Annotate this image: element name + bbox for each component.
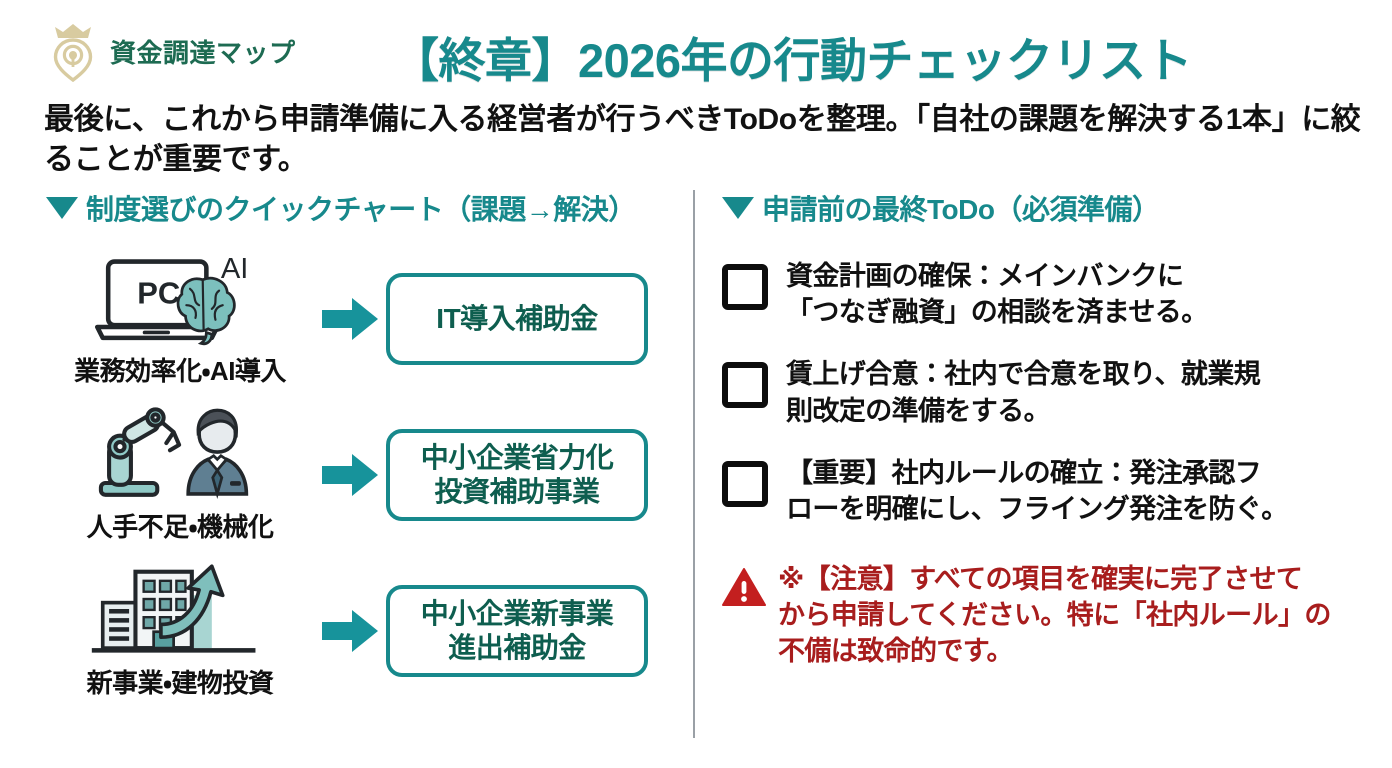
scheme-card[interactable]: 中小企業新事業 進出補助金 <box>386 585 648 677</box>
buildings-growth-arrow-icon <box>82 563 278 659</box>
checkbox-empty-icon[interactable] <box>722 362 768 408</box>
scheme-card-line: 投資補助事業 <box>421 475 614 509</box>
checklist-line: 賃上げ合意：社内で合意を取り、就業規 <box>786 359 1260 389</box>
flow-icon-label: 業務効率化・AI導入 <box>74 351 286 388</box>
checklist-item-text: 資金計画の確保：メインバンクに 「つなぎ融資」の相談を済ませる。 <box>786 258 1208 330</box>
robot-arm-businessman-icon <box>82 407 278 503</box>
flow-icon-label: 人手不足・機械化 <box>87 507 274 544</box>
left-column: 制度選びのクイックチャート（課題→解決） PC AI <box>46 188 686 706</box>
warning-line: ※【注意】すべての項目を確実に完了させて <box>778 564 1302 594</box>
flow-arrow-cell <box>314 609 386 653</box>
brand-name: 資金調達マップ <box>110 33 296 70</box>
flow-row: 新事業・建物投資 中小企業新事業 進出補助金 <box>46 556 686 706</box>
crown-pin-logo-icon <box>46 20 100 82</box>
checklist-line: 資金計画の確保：メインバンクに <box>786 261 1183 291</box>
arrow-right-icon <box>322 297 378 341</box>
flow-arrow-cell <box>314 297 386 341</box>
scheme-card-line: 中小企業新事業 <box>421 597 614 631</box>
checklist-item[interactable]: 【重要】社内ルールの確立：発注承認フ ローを明確にし、フライング発注を防ぐ。 <box>722 455 1370 527</box>
scheme-card-line: 中小企業省力化 <box>421 441 614 475</box>
warning-triangle-icon <box>722 567 766 607</box>
slide-root: 資金調達マップ 【終章】2026年の行動チェックリスト 最後に、これから申請準備… <box>0 0 1392 768</box>
scheme-card[interactable]: 中小企業省力化 投資補助事業 <box>386 429 648 521</box>
warning-line: から申請してください。特に「社内ルール」の <box>778 600 1331 630</box>
left-section-heading-label: 制度選びのクイックチャート（課題→解決） <box>86 188 636 228</box>
arrow-right-icon <box>322 453 378 497</box>
right-section-heading: 申請前の最終ToDo（必須準備） <box>722 188 1370 228</box>
checkbox-empty-icon[interactable] <box>722 264 768 310</box>
scheme-card-text: 中小企業新事業 進出補助金 <box>421 597 614 664</box>
checkbox-empty-icon[interactable] <box>722 461 768 507</box>
svg-text:PC: PC <box>137 275 180 310</box>
triangle-down-icon <box>46 197 78 219</box>
right-section-heading-label: 申請前の最終ToDo（必須準備） <box>762 188 1159 228</box>
arrow-right-icon <box>322 609 378 653</box>
checklist-line: 則改定の準備をする。 <box>786 396 1050 426</box>
checklist-item[interactable]: 賃上げ合意：社内で合意を取り、就業規 則改定の準備をする。 <box>722 356 1370 428</box>
flow-icon-cell: PC AI 業務効率化・AI導入 <box>46 251 314 388</box>
flow-arrow-cell <box>314 453 386 497</box>
checklist-line: ローを明確にし、フライング発注を防ぐ。 <box>786 494 1288 524</box>
triangle-down-icon <box>722 197 754 219</box>
scheme-card-text: 中小企業省力化 投資補助事業 <box>421 441 614 508</box>
svg-text:AI: AI <box>221 252 248 284</box>
flow-row: PC AI 業務効率化・AI導入 <box>46 244 686 394</box>
checklist-line: 「つなぎ融資」の相談を済ませる。 <box>786 297 1208 327</box>
checklist-line: 【重要】社内ルールの確立：発注承認フ <box>786 458 1261 488</box>
flow-icon-cell: 人手不足・機械化 <box>46 407 314 544</box>
right-column: 申請前の最終ToDo（必須準備） 資金計画の確保：メインバンクに 「つなぎ融資」… <box>722 188 1370 670</box>
scheme-card-text: IT導入補助金 <box>436 302 597 336</box>
checklist-item-text: 【重要】社内ルールの確立：発注承認フ ローを明確にし、フライング発注を防ぐ。 <box>786 455 1288 527</box>
scheme-card-line: 進出補助金 <box>421 631 614 665</box>
laptop-ai-brain-icon: PC AI <box>82 251 278 347</box>
warning-note: ※【注意】すべての項目を確実に完了させて から申請してください。特に「社内ルール… <box>722 561 1370 670</box>
scheme-card-line: IT導入補助金 <box>436 302 597 336</box>
left-section-heading: 制度選びのクイックチャート（課題→解決） <box>46 188 686 228</box>
warning-note-text: ※【注意】すべての項目を確実に完了させて から申請してください。特に「社内ルール… <box>778 561 1331 670</box>
checklist-item[interactable]: 資金計画の確保：メインバンクに 「つなぎ融資」の相談を済ませる。 <box>722 258 1370 330</box>
flow-row: 人手不足・機械化 中小企業省力化 投資補助事業 <box>46 400 686 550</box>
flow-icon-label: 新事業・建物投資 <box>87 663 274 700</box>
brand-logo-block: 資金調達マップ <box>46 20 296 82</box>
page-title: 【終章】2026年の行動チェックリスト <box>392 22 1192 91</box>
flow-icon-cell: 新事業・建物投資 <box>46 563 314 700</box>
lead-paragraph: 最後に、これから申請準備に入る経営者が行うべきToDoを整理。「自社の課題を解決… <box>44 100 1364 180</box>
checklist-item-text: 賃上げ合意：社内で合意を取り、就業規 則改定の準備をする。 <box>786 356 1260 428</box>
scheme-card[interactable]: IT導入補助金 <box>386 273 648 365</box>
warning-line: 不備は致命的です。 <box>778 636 1013 666</box>
column-divider <box>693 190 695 738</box>
